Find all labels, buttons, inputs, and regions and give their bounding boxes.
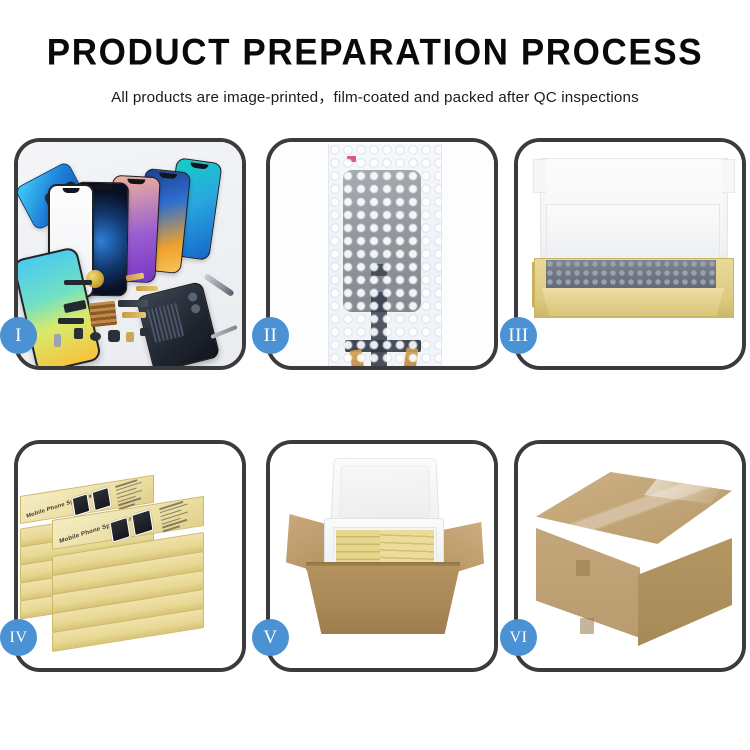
bubble-wrap-bag [328, 144, 442, 366]
panel-6-image [518, 444, 742, 668]
yellow-box-front-panel [538, 288, 728, 316]
foam-box-lid-inner [339, 465, 431, 517]
process-step-panel-1[interactable]: I [14, 138, 246, 370]
panel-5-image [270, 444, 494, 668]
small-connector-part-icon [140, 328, 150, 336]
page-header: PRODUCT PREPARATION PROCESS All products… [0, 0, 750, 107]
antenna-cable-icon [58, 318, 84, 324]
box-screen-image-a1 [72, 493, 91, 516]
panel-4-image: Mobile Phone Spare Parts Mobile Pho [18, 444, 242, 668]
vibration-motor-icon [86, 270, 104, 288]
box-screen-image-b2 [131, 509, 153, 536]
power-flex-icon [118, 300, 148, 307]
foam-box-lid [330, 458, 440, 526]
process-step-panel-4[interactable]: Mobile Phone Spare Parts Mobile Pho [14, 440, 246, 672]
process-step-grid: I II [0, 138, 750, 698]
step-badge-3: III [500, 317, 537, 354]
panel-1-image [18, 142, 242, 366]
process-step-panel-2[interactable]: II [266, 138, 498, 370]
process-step-panel-5[interactable]: V [266, 440, 498, 672]
process-step-panel-3[interactable]: III [514, 138, 746, 370]
flex-cable-icon [64, 280, 92, 285]
speaker-part-icon [74, 328, 83, 339]
page-subtitle: All products are image-printed，film-coat… [0, 85, 750, 107]
step-badge-4: IV [0, 619, 37, 656]
step-badge-1: I [0, 317, 37, 354]
ic-chip-icon [89, 301, 117, 328]
process-step-panel-6[interactable]: VI [514, 440, 746, 672]
page-title: PRODUCT PREPARATION PROCESS [0, 34, 750, 71]
step-badge-2: II [252, 317, 289, 354]
carton-front-panel [306, 566, 460, 634]
charging-port-flex-icon [122, 312, 146, 318]
carton-tape-tab-upper [576, 560, 590, 576]
button-part-icon [90, 332, 101, 341]
step-badge-6: VI [500, 619, 537, 656]
box-screen-image-a2 [92, 487, 112, 512]
gold-contact-part-icon [126, 332, 134, 342]
carton-tape-tab-lower [580, 618, 594, 634]
gold-flex-strip-icon [136, 286, 158, 291]
step-badge-5: V [252, 619, 289, 656]
panel-2-image [270, 142, 494, 366]
foam-sheet [546, 204, 720, 264]
bubble-texture [329, 144, 441, 366]
panel-3-image [518, 142, 742, 366]
metal-bracket-part-icon [54, 334, 61, 347]
sim-tray-part-icon [108, 330, 120, 342]
box-spec-lines-front [159, 500, 191, 533]
